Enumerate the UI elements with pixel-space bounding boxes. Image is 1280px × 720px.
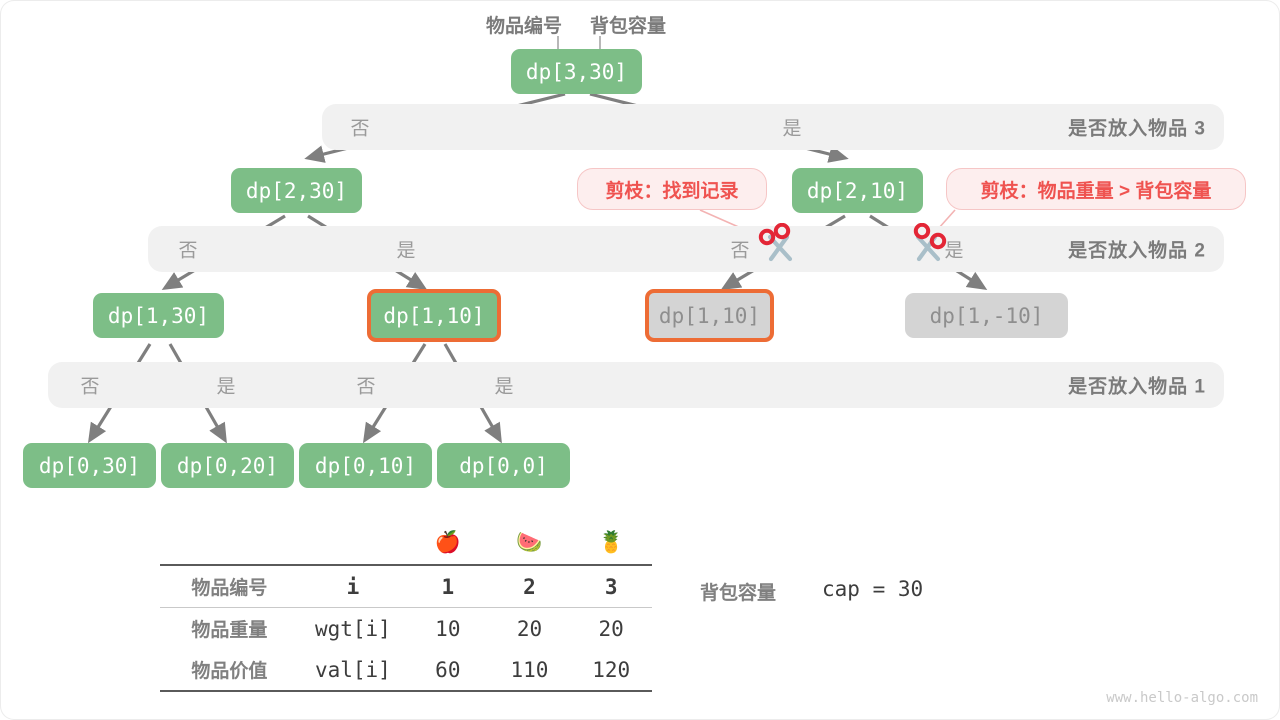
row-key-index: i bbox=[299, 565, 407, 608]
row-label-weight: 物品重量 bbox=[160, 608, 299, 650]
level-band-item1: 否 是 否 是 是否放入物品 1 bbox=[48, 362, 1224, 408]
band2-choice-no-left: 否 bbox=[178, 236, 197, 263]
table-row-index: 物品编号 i 1 2 3 bbox=[160, 565, 652, 608]
item-spec-table: 🍎 🍉 🍍 物品编号 i 1 2 3 物品重量 wgt[i] 10 20 20 bbox=[160, 520, 680, 692]
cell-index-3: 3 bbox=[570, 565, 652, 608]
row-label-index: 物品编号 bbox=[160, 565, 299, 608]
row-key-value: val[i] bbox=[299, 649, 407, 691]
node-dp-0-0[interactable]: dp[0,0] bbox=[437, 443, 570, 488]
header-capacity-label: 背包容量 bbox=[590, 11, 666, 38]
cell-weight-2: 20 bbox=[489, 608, 571, 650]
level-band-item3: 否 是 是否放入物品 3 bbox=[322, 104, 1224, 150]
header-item-index-label: 物品编号 bbox=[486, 11, 562, 38]
cell-value-3: 120 bbox=[570, 649, 652, 691]
capacity-text-label: 背包容量 bbox=[700, 578, 776, 605]
node-dp-0-30[interactable]: dp[0,30] bbox=[23, 443, 156, 488]
band2-choice-yes-left: 是 bbox=[396, 236, 415, 263]
scissors-icon-left bbox=[757, 223, 803, 267]
table-row-value: 物品价值 val[i] 60 110 120 bbox=[160, 649, 652, 691]
diagram-canvas: 物品编号 背包容量 否 是 是否放入物品 3 否 是 否 是 是否放入物品 2 … bbox=[0, 0, 1280, 720]
fruit-watermelon-icon: 🍉 bbox=[489, 520, 571, 565]
node-dp-1-10-highlighted[interactable]: dp[1,10] bbox=[367, 289, 501, 342]
fruit-row-spacer bbox=[160, 520, 299, 565]
row-label-value: 物品价值 bbox=[160, 649, 299, 691]
node-dp-0-10[interactable]: dp[0,10] bbox=[299, 443, 432, 488]
level-band-item2: 否 是 否 是 是否放入物品 2 bbox=[148, 226, 1224, 272]
node-dp-0-20[interactable]: dp[0,20] bbox=[161, 443, 294, 488]
cell-value-1: 60 bbox=[407, 649, 489, 691]
table-fruit-row: 🍎 🍉 🍍 bbox=[160, 520, 652, 565]
prune-note-weight: 剪枝：物品重量 > 背包容量 bbox=[946, 168, 1246, 210]
table-row-weight: 物品重量 wgt[i] 10 20 20 bbox=[160, 608, 652, 650]
row-key-weight: wgt[i] bbox=[299, 608, 407, 650]
cell-weight-1: 10 bbox=[407, 608, 489, 650]
band1-title: 是否放入物品 1 bbox=[1068, 372, 1206, 399]
band2-choice-no-right: 否 bbox=[730, 236, 749, 263]
band3-choice-yes: 是 bbox=[782, 114, 801, 141]
scissors-icon-right bbox=[905, 223, 951, 267]
fruit-apple-icon: 🍎 bbox=[407, 520, 489, 565]
node-dp-1-neg10[interactable]: dp[1,-10] bbox=[905, 293, 1068, 338]
band1-choice-b: 是 bbox=[216, 372, 235, 399]
watermark: www.hello-algo.com bbox=[1106, 690, 1258, 706]
band1-choice-a: 否 bbox=[80, 372, 99, 399]
band1-choice-c: 否 bbox=[356, 372, 375, 399]
band3-choice-no: 否 bbox=[350, 114, 369, 141]
cell-index-1: 1 bbox=[407, 565, 489, 608]
node-dp-2-10[interactable]: dp[2,10] bbox=[792, 168, 923, 213]
band1-choice-d: 是 bbox=[494, 372, 513, 399]
capacity-expression: cap = 30 bbox=[822, 577, 923, 601]
band3-title: 是否放入物品 3 bbox=[1068, 114, 1206, 141]
node-dp-3-30[interactable]: dp[3,30] bbox=[511, 49, 642, 94]
fruit-pineapple-icon: 🍍 bbox=[570, 520, 652, 565]
node-dp-1-10-memo[interactable]: dp[1,10] bbox=[645, 289, 774, 342]
cell-value-2: 110 bbox=[489, 649, 571, 691]
band2-title: 是否放入物品 2 bbox=[1068, 236, 1206, 263]
node-dp-1-30[interactable]: dp[1,30] bbox=[93, 293, 224, 338]
cell-weight-3: 20 bbox=[570, 608, 652, 650]
fruit-key-spacer bbox=[299, 520, 407, 565]
node-dp-2-30[interactable]: dp[2,30] bbox=[231, 168, 362, 213]
prune-note-memo: 剪枝：找到记录 bbox=[577, 168, 767, 210]
cell-index-2: 2 bbox=[489, 565, 571, 608]
